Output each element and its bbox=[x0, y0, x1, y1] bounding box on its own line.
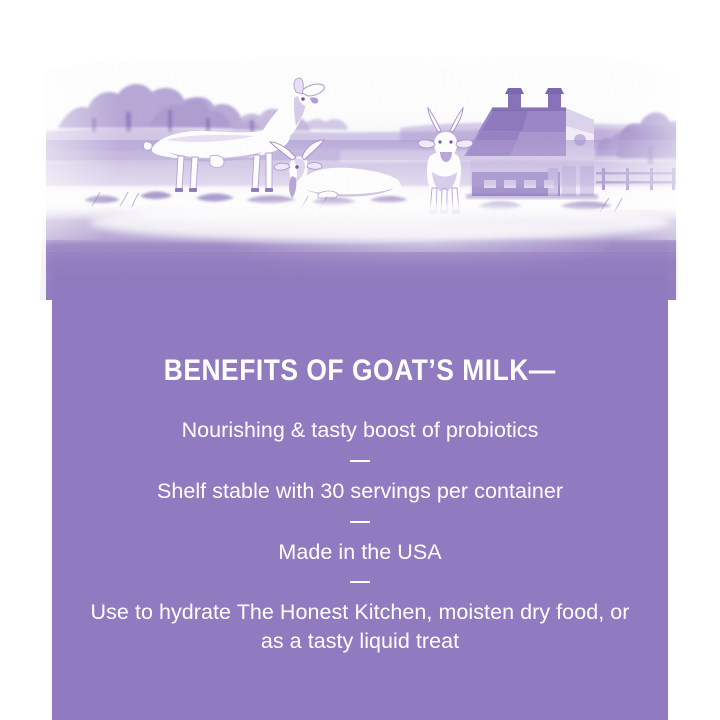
benefits-heading: BENEFITS OF GOAT’S MILK— bbox=[164, 356, 556, 386]
goat-pasture-illustration bbox=[0, 0, 720, 300]
benefit-item-probiotics: Nourishing & tasty boost of probiotics bbox=[74, 416, 646, 445]
benefit-item-usage: Use to hydrate The Honest Kitchen, moist… bbox=[74, 598, 646, 656]
benefit-divider bbox=[350, 460, 370, 462]
benefit-item-shelf-stable: Shelf stable with 30 servings per contai… bbox=[74, 477, 646, 506]
product-benefits-card: BENEFITS OF GOAT’S MILK— Nourishing & ta… bbox=[0, 0, 720, 720]
benefits-list: Nourishing & tasty boost of probiotics S… bbox=[74, 416, 646, 656]
benefits-content: BENEFITS OF GOAT’S MILK— Nourishing & ta… bbox=[52, 276, 668, 720]
benefit-divider bbox=[350, 581, 370, 583]
benefit-divider bbox=[350, 521, 370, 523]
benefit-item-made-in-usa: Made in the USA bbox=[74, 538, 646, 567]
